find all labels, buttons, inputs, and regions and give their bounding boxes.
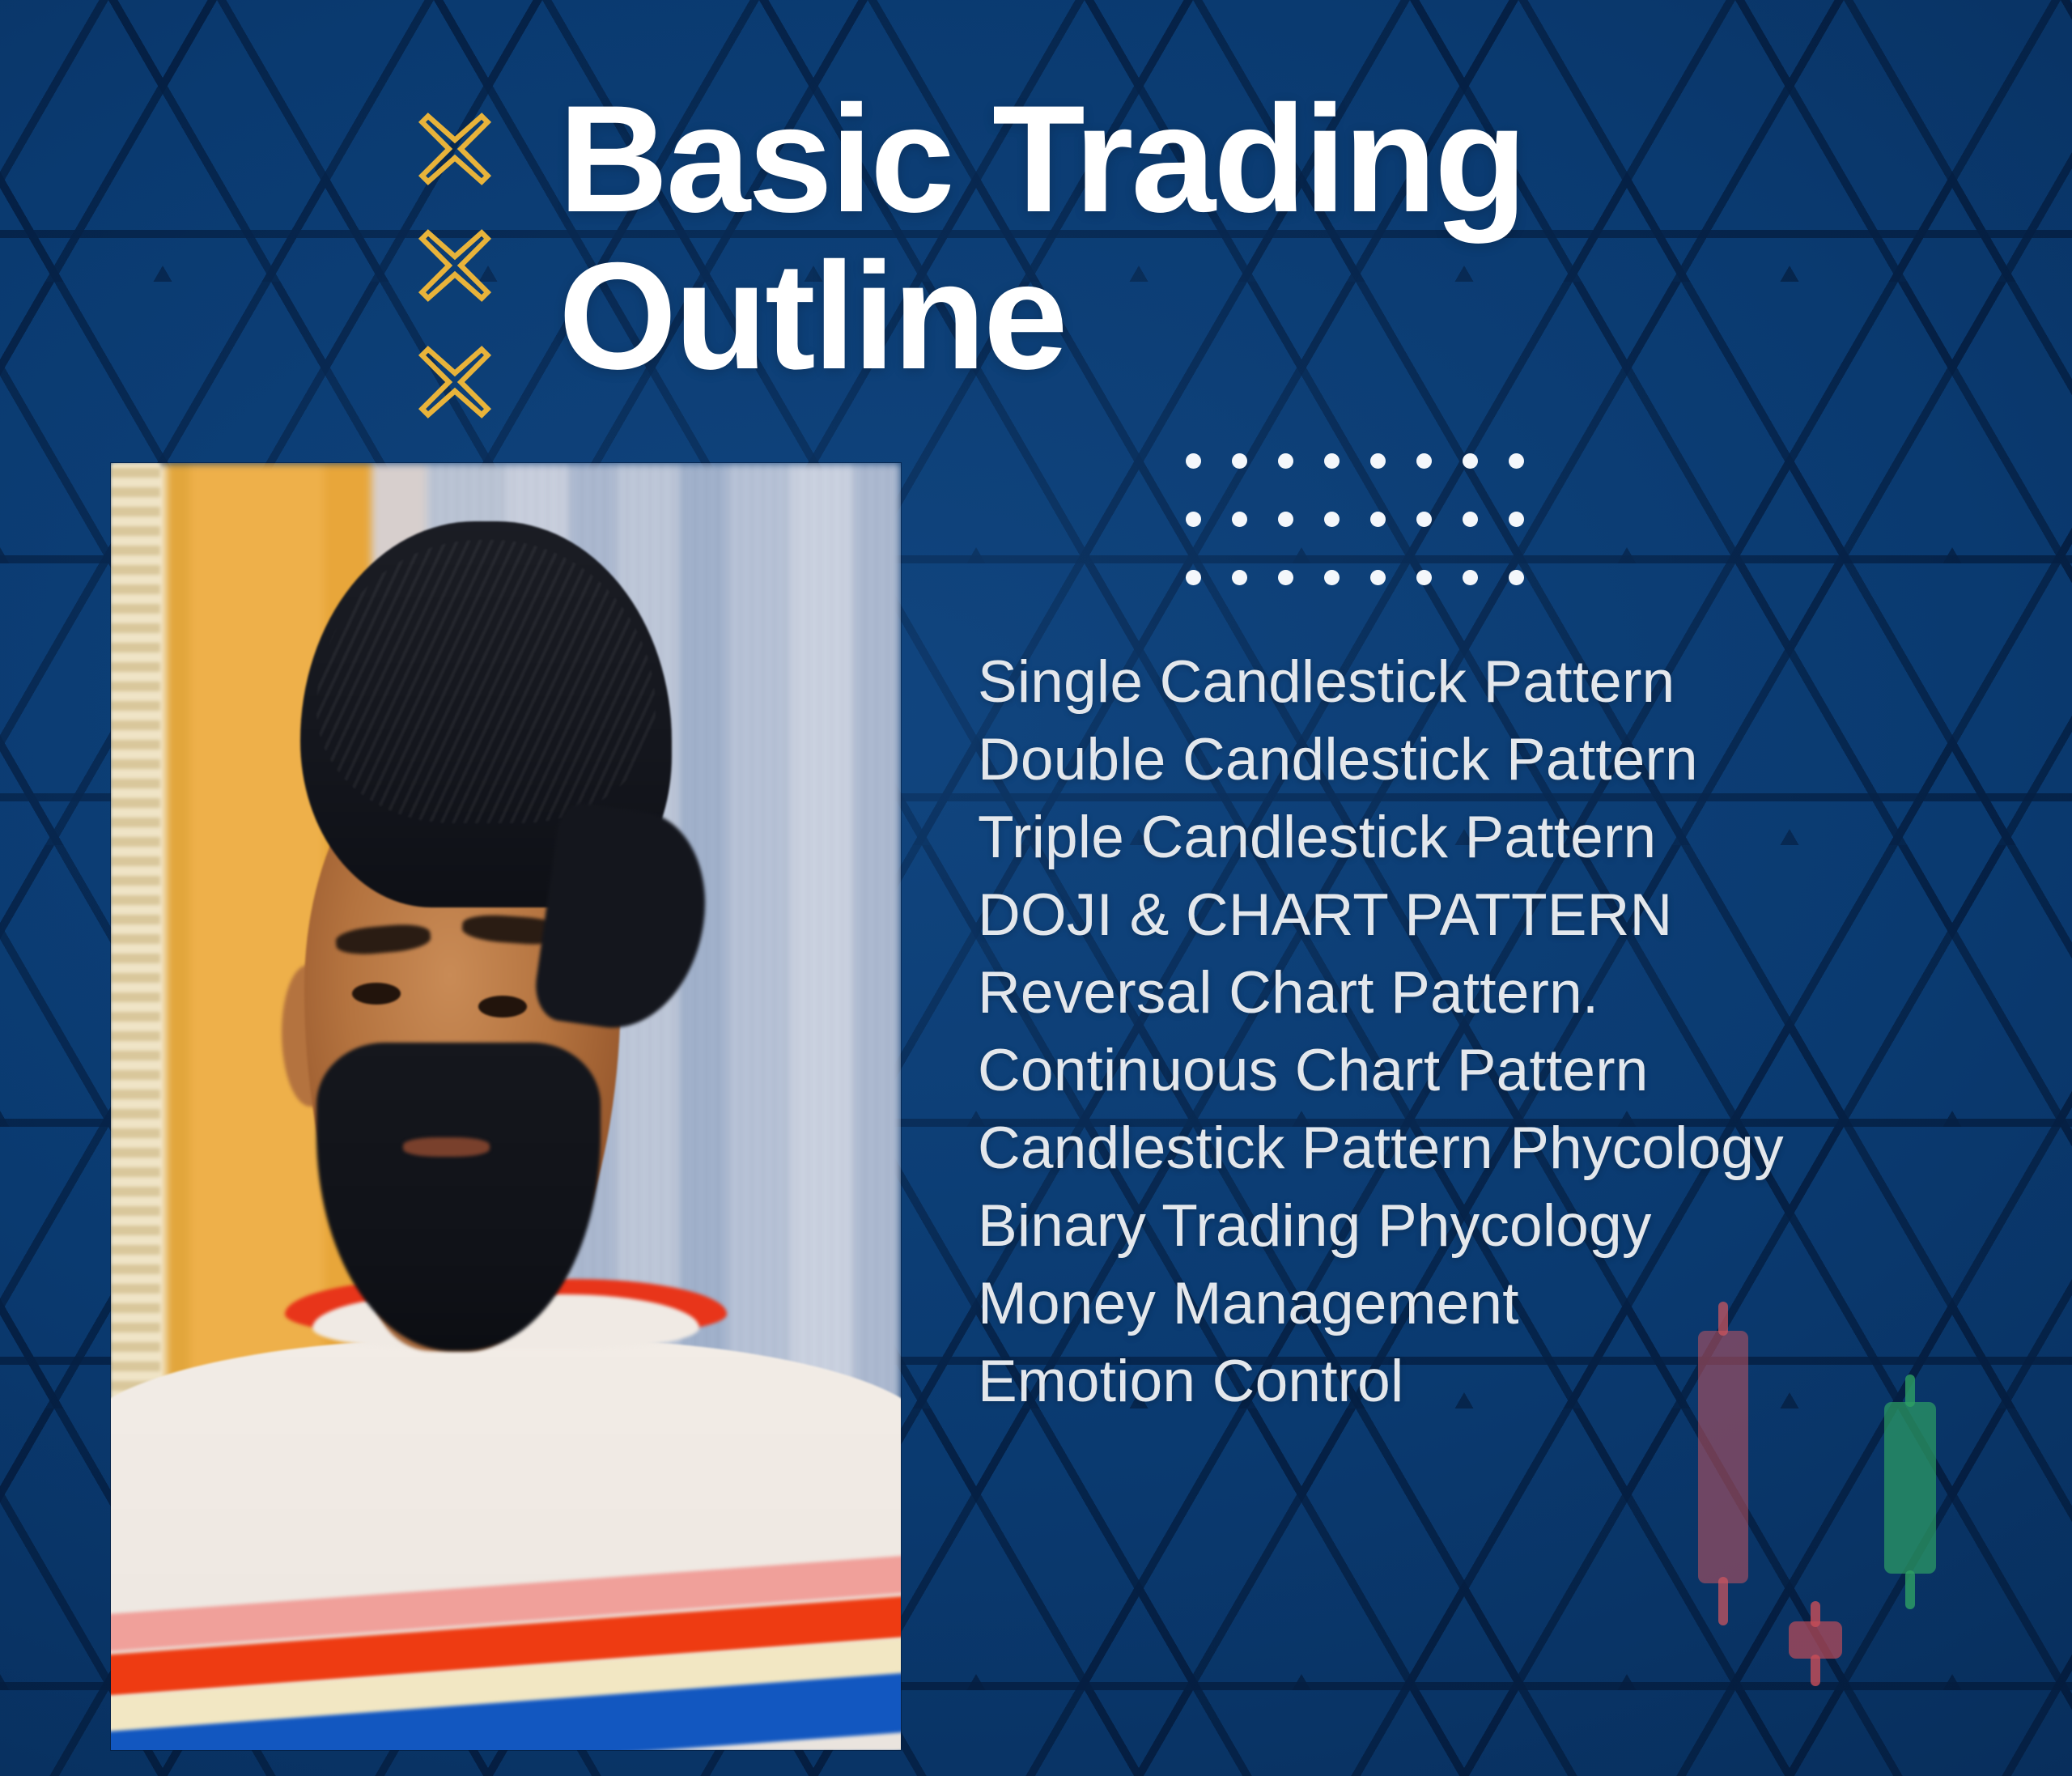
dot bbox=[1232, 453, 1247, 469]
x-mark-icon bbox=[418, 112, 492, 186]
dot-grid-decoration bbox=[1186, 453, 1555, 628]
dot bbox=[1278, 570, 1293, 585]
dot bbox=[1370, 570, 1386, 585]
list-item: Single Candlestick Pattern bbox=[978, 644, 2054, 721]
dot bbox=[1416, 512, 1432, 527]
x-mark-icon bbox=[418, 345, 492, 419]
dot bbox=[1186, 570, 1201, 585]
list-item: DOJI & CHART PATTERN bbox=[978, 877, 2054, 954]
dot bbox=[1278, 453, 1293, 469]
dot bbox=[1186, 453, 1201, 469]
candle-body bbox=[1789, 1621, 1842, 1659]
poster-canvas: Basic Trading Outline Single Candlest bbox=[0, 0, 2072, 1776]
dot bbox=[1278, 512, 1293, 527]
photo-lips bbox=[403, 1137, 490, 1157]
dot bbox=[1232, 570, 1247, 585]
candle-lower-wick bbox=[1905, 1570, 1915, 1609]
dot bbox=[1186, 512, 1201, 527]
dot bbox=[1324, 570, 1340, 585]
title-line-2: Outline bbox=[558, 238, 1934, 395]
dot bbox=[1416, 453, 1432, 469]
list-item: Continuous Chart Pattern bbox=[978, 1032, 2054, 1110]
dot bbox=[1232, 512, 1247, 527]
dot bbox=[1463, 453, 1478, 469]
dot bbox=[1509, 453, 1524, 469]
candle-body bbox=[1884, 1402, 1936, 1574]
candle-lower-wick bbox=[1718, 1577, 1728, 1625]
list-item: Double Candlestick Pattern bbox=[978, 721, 2054, 799]
dot bbox=[1463, 570, 1478, 585]
dot bbox=[1416, 570, 1432, 585]
dot bbox=[1463, 512, 1478, 527]
dot bbox=[1324, 453, 1340, 469]
bearish-candle-small-icon bbox=[1789, 1601, 1842, 1686]
x-decoration-group bbox=[418, 112, 492, 461]
title-line-1: Basic Trading bbox=[558, 81, 1934, 238]
list-item: Binary Trading Phycology bbox=[978, 1188, 2054, 1265]
list-item: Candlestick Pattern Phycology bbox=[978, 1110, 2054, 1188]
dot bbox=[1370, 453, 1386, 469]
portrait-photo bbox=[111, 463, 901, 1750]
dot bbox=[1324, 512, 1340, 527]
dot bbox=[1370, 512, 1386, 527]
page-title: Basic Trading Outline bbox=[558, 81, 1934, 394]
list-item: Triple Candlestick Pattern bbox=[978, 799, 2054, 877]
x-mark-icon bbox=[418, 228, 492, 303]
outline-list: Single Candlestick Pattern Double Candle… bbox=[978, 644, 2054, 1421]
list-item: Reversal Chart Pattern. bbox=[978, 954, 2054, 1032]
list-item: Emotion Control bbox=[978, 1343, 2054, 1421]
dot bbox=[1509, 512, 1524, 527]
candle-lower-wick bbox=[1811, 1655, 1820, 1686]
list-item: Money Management bbox=[978, 1265, 2054, 1343]
dot bbox=[1509, 570, 1524, 585]
